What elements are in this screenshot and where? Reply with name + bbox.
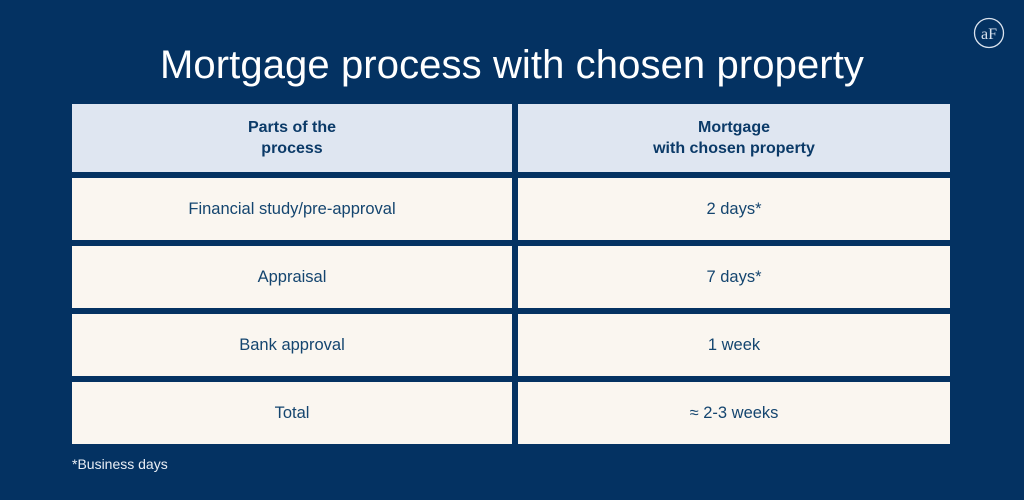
- process-name-cell: Appraisal: [72, 246, 512, 308]
- process-name-cell: Bank approval: [72, 314, 512, 376]
- process-duration-cell: 2 days*: [518, 178, 950, 240]
- column-header-parts-of-the-process: Parts of the process: [72, 104, 512, 172]
- process-name-cell: Total: [72, 382, 512, 444]
- table-row: Appraisal 7 days*: [72, 246, 950, 308]
- process-duration-table: Parts of the process Mortgage with chose…: [72, 104, 950, 444]
- column-header-mortgage-line1: Mortgage: [698, 119, 770, 136]
- column-header-parts-line2: process: [261, 140, 322, 157]
- footnote: *Business days: [72, 455, 168, 473]
- page-title: Mortgage process with chosen property: [0, 40, 1024, 90]
- table-header-row: Parts of the process Mortgage with chose…: [72, 104, 950, 172]
- process-duration-cell: 7 days*: [518, 246, 950, 308]
- process-name-cell: Financial study/pre-approval: [72, 178, 512, 240]
- column-header-parts-line1: Parts of the: [248, 119, 336, 136]
- table-row: Financial study/pre-approval 2 days*: [72, 178, 950, 240]
- column-header-mortgage-line2: with chosen property: [653, 140, 815, 157]
- table-row: Bank approval 1 week: [72, 314, 950, 376]
- column-header-mortgage-with-chosen-property: Mortgage with chosen property: [518, 104, 950, 172]
- process-duration-cell: 1 week: [518, 314, 950, 376]
- table-row-total: Total ≈ 2-3 weeks: [72, 382, 950, 444]
- process-duration-cell: ≈ 2-3 weeks: [518, 382, 950, 444]
